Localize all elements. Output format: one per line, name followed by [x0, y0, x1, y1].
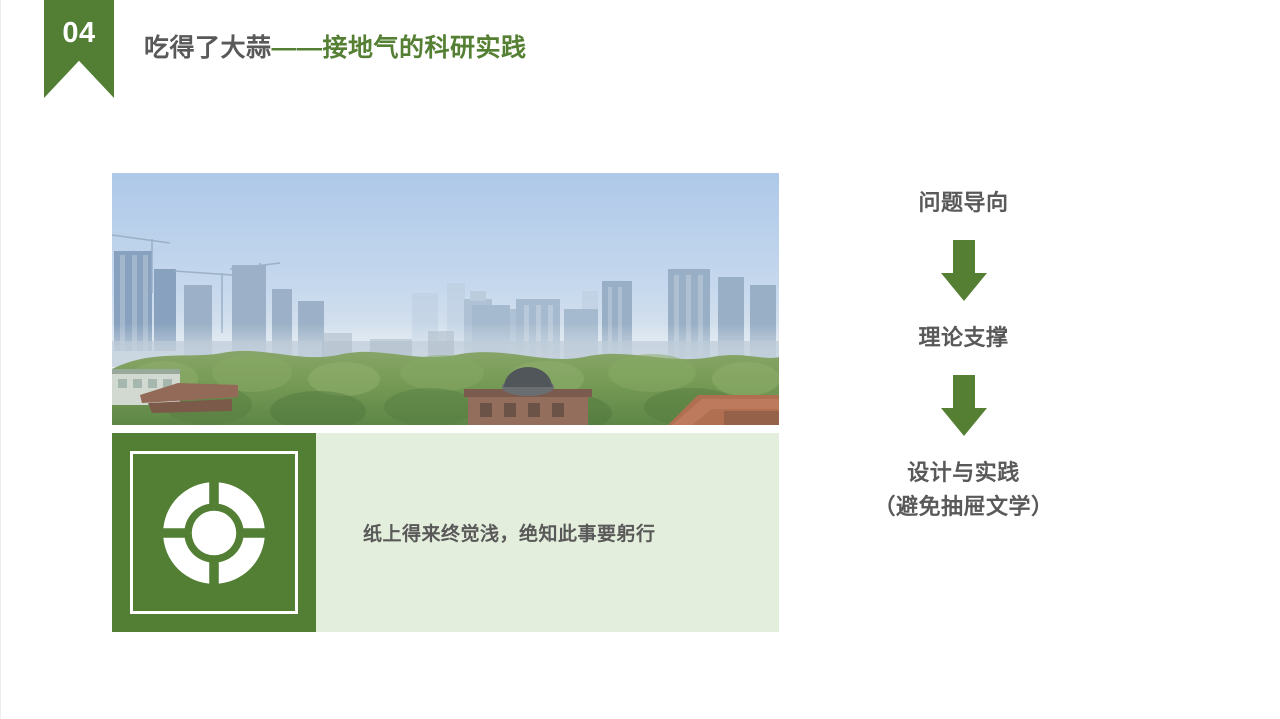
- city-skyline-photo: [112, 173, 779, 425]
- quote-text: 纸上得来终觉浅，绝知此事要躬行: [316, 433, 779, 632]
- slide-canvas: 04 吃得了大蒜——接地气的科研实践: [0, 0, 1280, 719]
- flow-step-1-label: 问题导向: [918, 186, 1008, 220]
- section-number: 04: [44, 19, 114, 48]
- flow-step-2-label: 理论支撑: [918, 321, 1008, 355]
- flow-step-3-sublabel: （避免抽屉文学）: [873, 490, 1053, 524]
- arrow-down-icon: [941, 375, 987, 436]
- bookmark-ribbon-icon: 04: [44, 0, 114, 98]
- lifebuoy-icon: [161, 480, 267, 586]
- quote-icon-tile: [112, 433, 316, 632]
- arrow-down-icon: [941, 240, 987, 301]
- flow-step-3-label: 设计与实践: [907, 456, 1020, 490]
- quote-card: 纸上得来终觉浅，绝知此事要躬行: [112, 433, 779, 632]
- slide-header: 04 吃得了大蒜——接地气的科研实践: [1, 0, 1280, 110]
- process-flow: 问题导向 理论支撑 设计与实践 （避免抽屉文学）: [831, 186, 1096, 524]
- page-title-primary: 吃得了大蒜: [144, 34, 272, 62]
- page-title: 吃得了大蒜——接地气的科研实践: [144, 32, 527, 65]
- page-title-secondary: ——接地气的科研实践: [272, 34, 527, 62]
